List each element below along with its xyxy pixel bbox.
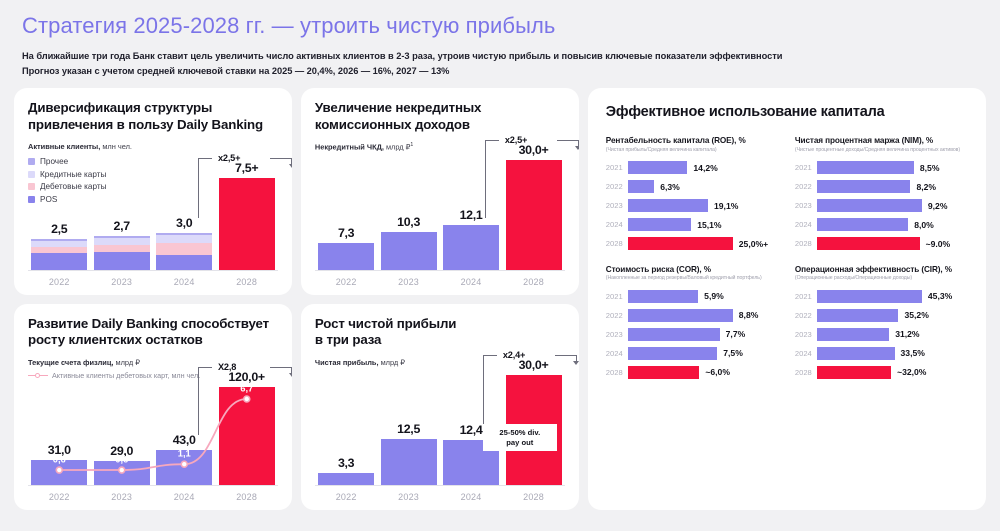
metric-value-label: ~32,0% — [897, 367, 926, 377]
metric-value-label: 8,5% — [920, 163, 940, 173]
chart-x-axis: 2022202320242028 — [28, 277, 278, 287]
bar-value-label: 3,0 — [176, 216, 192, 230]
metric-value-label: 19,1% — [714, 201, 738, 211]
bar[interactable] — [94, 461, 150, 485]
card-net-profit: Рост чистой прибыли в три раза Чистая пр… — [301, 304, 579, 511]
metric-bar-track: 6,3% — [628, 180, 779, 193]
x-axis-tick-label: 2024 — [442, 277, 499, 287]
card1-unit-label: Активные клиенты, млн чел. — [28, 142, 278, 151]
metric-bar[interactable] — [628, 366, 700, 379]
metric-title: Чистая процентная маржа (NIM), % — [795, 136, 968, 145]
bar[interactable] — [31, 460, 87, 485]
metric-bar-row[interactable]: 202825,0%+ — [606, 236, 779, 252]
metric-bar-row[interactable]: 2028~32,0% — [795, 364, 968, 380]
bar-segment — [156, 235, 212, 243]
x-axis-tick-label: 2022 — [31, 492, 88, 502]
arrow-head-icon — [573, 361, 578, 365]
bracket-horizontal-line — [198, 158, 212, 159]
bar-segment — [94, 245, 150, 252]
x-axis-tick-label: 2024 — [155, 492, 212, 502]
bar-value-label: 12,4 — [460, 423, 483, 437]
bracket-arrow-stem — [578, 140, 579, 147]
card1-unit-bold: Активные клиенты, — [28, 142, 100, 151]
chart-plot-area: 3,312,512,430,0+x2,4+25-50% div. pay out — [315, 349, 565, 486]
metric-bar-row[interactable]: 20248,0% — [795, 217, 968, 233]
bar[interactable] — [156, 233, 212, 270]
metric-year-label: 2021 — [795, 163, 817, 172]
bracket-arrow-line — [270, 367, 292, 368]
metric-year-label: 2021 — [795, 292, 817, 301]
metric-bar-row[interactable]: 20215,9% — [606, 288, 779, 304]
metric-value-label: 7,5% — [723, 348, 743, 358]
bracket-arrow-line — [557, 140, 579, 141]
bar-segment — [318, 473, 374, 485]
metric-bar[interactable] — [628, 309, 733, 322]
metric-bar[interactable] — [628, 347, 717, 360]
metric-bar[interactable] — [817, 218, 908, 231]
chart-column[interactable]: 43,0 — [155, 433, 212, 485]
x-axis-tick-label: 2022 — [317, 277, 374, 287]
bar[interactable] — [381, 232, 437, 270]
page-title: Стратегия 2025-2028 гг. — утроить чистую… — [22, 14, 978, 38]
bracket-arrow-stem — [576, 355, 577, 362]
metric-bar[interactable] — [628, 290, 698, 303]
bar-segment — [31, 253, 87, 270]
bar-segment — [156, 255, 212, 270]
x-axis-tick-label: 2023 — [93, 277, 150, 287]
metric-bar[interactable] — [628, 161, 688, 174]
card1-chart: 2,52,73,07,5+x2,5+2022202320242028 — [28, 152, 278, 287]
metric-bar-row[interactable]: 20237,7% — [606, 326, 779, 342]
x-axis-tick-label: 2028 — [505, 277, 562, 287]
metric-value-label: 6,3% — [660, 182, 680, 192]
metric-bar-row[interactable]: 202235,2% — [795, 307, 968, 323]
chart-plot-area: 7,310,312,130,0+x2,5+ — [315, 134, 565, 271]
metric-bar-track: 7,7% — [628, 328, 779, 341]
chart-x-axis: 2022202320242028 — [28, 492, 278, 502]
metric-subtitle: (Чистые процентные доходы/Средняя величи… — [795, 147, 968, 153]
x-axis-tick-label: 2024 — [155, 277, 212, 287]
bar[interactable] — [443, 225, 499, 269]
x-axis-tick-label: 2028 — [218, 492, 275, 502]
metric-bar[interactable] — [817, 290, 922, 303]
bar[interactable] — [219, 387, 275, 485]
metric-bar[interactable] — [817, 161, 914, 174]
bracket-horizontal-line — [483, 355, 497, 356]
metric-year-label: 2024 — [795, 220, 817, 229]
chart-column[interactable]: 29,0 — [93, 444, 150, 485]
bar-segment — [443, 225, 499, 269]
bar-segment — [94, 461, 150, 485]
bar[interactable] — [31, 239, 87, 270]
metric-bar[interactable] — [628, 199, 708, 212]
chart-column[interactable]: 120,0+ — [218, 370, 275, 485]
bracket-arrow-stem — [291, 158, 292, 165]
metric-value-label: ~6,0% — [705, 367, 730, 377]
metric-bar-row[interactable]: 202433,5% — [795, 345, 968, 361]
bar-segment — [318, 243, 374, 270]
bar-value-label: 31,0 — [48, 443, 71, 457]
metric-bar-row[interactable]: 202114,2% — [606, 160, 779, 176]
metric-bar-track: 5,9% — [628, 290, 779, 303]
metric-grid: Рентабельность капитала (ROE), %(Чистая … — [606, 136, 968, 383]
bar-segment — [506, 160, 562, 270]
bar[interactable] — [506, 160, 562, 270]
bar-value-label: 7,5+ — [235, 161, 258, 175]
metric-year-label: 2021 — [606, 292, 628, 301]
dashboard-board: Диверсификация структуры привлечения в п… — [0, 78, 1000, 510]
metric-year-label: 2024 — [606, 220, 628, 229]
card3-title: Развитие Daily Banking способствует рост… — [28, 316, 278, 349]
bracket-arrow-stem — [291, 367, 292, 374]
metric-year-label: 2028 — [795, 368, 817, 377]
metric-bar[interactable] — [817, 309, 899, 322]
chart-column[interactable]: 31,0 — [31, 443, 88, 485]
x-axis-tick-label: 2024 — [442, 492, 499, 502]
page-subtitle: На ближайшие три года Банк ставит цель у… — [22, 49, 978, 78]
bar[interactable] — [219, 178, 275, 270]
metric-year-label: 2023 — [795, 201, 817, 210]
metric-block: Рентабельность капитала (ROE), %(Чистая … — [606, 136, 779, 255]
metric-year-label: 2024 — [606, 349, 628, 358]
metric-block: Стоимость риска (COR), %(Накопленные за … — [606, 265, 779, 384]
bar-segment — [94, 238, 150, 245]
chart-plot-area: 2,52,73,07,5+x2,5+ — [28, 152, 278, 271]
bar-value-label: 29,0 — [110, 444, 133, 458]
card1-title: Диверсификация структуры привлечения в п… — [28, 100, 278, 133]
card2-chart: 7,310,312,130,0+x2,5+2022202320242028 — [315, 134, 565, 287]
chart-column[interactable]: 30,0+ — [505, 358, 562, 485]
metric-bar-track: ~6,0% — [628, 366, 779, 379]
metric-bar-track: 25,0%+ — [628, 237, 779, 250]
bar-segment — [381, 232, 437, 270]
chart-x-axis: 2022202320242028 — [315, 492, 565, 502]
x-axis-tick-label: 2028 — [505, 492, 562, 502]
metric-bar-track: 8,2% — [817, 180, 968, 193]
metric-bar-track: 14,2% — [628, 161, 779, 174]
metric-bar[interactable] — [628, 218, 691, 231]
metric-value-label: 7,7% — [726, 329, 746, 339]
metric-title: Операционная эффективность (CIR), % — [795, 265, 968, 274]
metric-bar-row[interactable]: 202415,1% — [606, 217, 779, 233]
bar-value-label: 2,5 — [51, 222, 67, 236]
bracket-horizontal-line — [198, 367, 212, 368]
bracket-arrow-line — [270, 158, 292, 159]
metric-value-label: 14,2% — [693, 163, 717, 173]
bar-segment — [94, 252, 150, 269]
metric-bar-track: 8,8% — [628, 309, 779, 322]
chart-column[interactable]: 3,0 — [155, 216, 212, 270]
metric-bar-row[interactable]: 202145,3% — [795, 288, 968, 304]
metric-bar-track: 33,5% — [817, 347, 968, 360]
metric-bar-row[interactable]: 20239,2% — [795, 198, 968, 214]
metric-year-label: 2022 — [606, 182, 628, 191]
bar[interactable] — [381, 439, 437, 485]
left-row-bottom: Развитие Daily Banking способствует рост… — [14, 304, 579, 511]
metric-year-label: 2021 — [606, 163, 628, 172]
bar[interactable] — [94, 236, 150, 269]
bracket-horizontal-line — [485, 140, 499, 141]
metric-bar-track: 35,2% — [817, 309, 968, 322]
chart-column[interactable]: 2,7 — [93, 219, 150, 269]
metric-bar-track: ~32,0% — [817, 366, 968, 379]
metric-bar-row[interactable]: 20218,5% — [795, 160, 968, 176]
metric-bar-track: 45,3% — [817, 290, 968, 303]
metric-value-label: 15,1% — [697, 220, 721, 230]
metric-year-label: 2023 — [795, 330, 817, 339]
metric-block: Операционная эффективность (CIR), %(Опер… — [795, 265, 968, 384]
bar-value-label: 30,0+ — [519, 358, 549, 372]
bar[interactable] — [156, 450, 212, 485]
bracket-vertical-line — [198, 367, 199, 435]
metric-value-label: 8,0% — [914, 220, 934, 230]
metric-value-label: 33,5% — [901, 348, 925, 358]
bar-segment — [219, 178, 275, 270]
bar-value-label: 43,0 — [173, 433, 196, 447]
metric-value-label: 9,2% — [928, 201, 948, 211]
metric-bar-row[interactable]: 20247,5% — [606, 345, 779, 361]
metric-bar-track: 15,1% — [628, 218, 779, 231]
metric-bar-row[interactable]: 202319,1% — [606, 198, 779, 214]
bar[interactable] — [318, 243, 374, 270]
bar-value-label: 12,5 — [397, 422, 420, 436]
chart-column[interactable]: 30,0+ — [505, 143, 562, 270]
metric-bar[interactable] — [817, 180, 911, 193]
chart-column[interactable]: 3,3 — [317, 456, 374, 485]
metric-year-label: 2024 — [795, 349, 817, 358]
metric-bar-track: 8,5% — [817, 161, 968, 174]
metric-year-label: 2028 — [795, 239, 817, 248]
chart-plot-area: 31,029,043,0120,0+X2,80,60,61,16,7 — [28, 361, 278, 486]
metric-value-label: 31,2% — [895, 329, 919, 339]
chart-column[interactable]: 12,1 — [442, 208, 499, 269]
card-current-accounts: Развитие Daily Banking способствует рост… — [14, 304, 292, 511]
x-axis-tick-label: 2022 — [317, 492, 374, 502]
chart-column[interactable]: 2,5 — [31, 222, 88, 270]
bar-value-label: 120,0+ — [228, 370, 264, 384]
bar-segment — [31, 460, 87, 485]
card-fee-income: Увеличение некредитных комиссионных дохо… — [301, 88, 579, 295]
metric-subtitle: (Чистая прибыль/Средняя величина капитал… — [606, 147, 779, 153]
metric-value-label: 35,2% — [904, 310, 928, 320]
metric-year-label: 2023 — [606, 201, 628, 210]
metric-value-label: 8,8% — [739, 310, 759, 320]
bar[interactable] — [318, 473, 374, 485]
right-panel-title: Эффективное использование капитала — [606, 104, 968, 120]
metric-bar[interactable] — [817, 237, 920, 250]
chart-column[interactable]: 7,5+ — [218, 161, 275, 270]
bar-segment — [381, 439, 437, 485]
bar-value-label: 7,3 — [338, 226, 354, 240]
card4-chart: 3,312,512,430,0+x2,4+25-50% div. pay out… — [315, 349, 565, 502]
card3-chart: 31,029,043,0120,0+X2,80,60,61,16,7202220… — [28, 361, 278, 502]
metric-year-label: 2022 — [606, 311, 628, 320]
subtitle-line-1: На ближайшие три года Банк ставит цель у… — [22, 49, 978, 63]
metric-bar-track: 7,5% — [628, 347, 779, 360]
bar-segment — [156, 243, 212, 255]
left-column: Диверсификация структуры привлечения в п… — [14, 88, 579, 510]
metric-year-label: 2022 — [795, 311, 817, 320]
bar-segment — [156, 450, 212, 485]
chart-column[interactable]: 10,3 — [380, 215, 437, 270]
bar-value-label: 10,3 — [397, 215, 420, 229]
subtitle-line-2: Прогноз указан с учетом средней ключевой… — [22, 64, 978, 78]
metric-bar[interactable] — [628, 237, 733, 250]
arrow-head-icon — [289, 164, 292, 168]
card-capital-efficiency: Эффективное использование капитала Рента… — [588, 88, 986, 510]
metric-value-label: 8,2% — [916, 182, 936, 192]
metric-year-label: 2028 — [606, 368, 628, 377]
metric-bar[interactable] — [628, 180, 654, 193]
metric-title: Рентабельность капитала (ROE), % — [606, 136, 779, 145]
x-axis-tick-label: 2023 — [380, 277, 437, 287]
metric-bar-row[interactable]: 2028~6,0% — [606, 364, 779, 380]
metric-subtitle: (Накопленные за период резервы/Валовый к… — [606, 275, 779, 281]
metric-bar-track: 8,0% — [817, 218, 968, 231]
metric-bar-row[interactable]: 20228,2% — [795, 179, 968, 195]
chart-x-axis: 2022202320242028 — [315, 277, 565, 287]
metric-subtitle: (Операционные расходы/Операционные доход… — [795, 275, 968, 281]
metric-year-label: 2028 — [606, 239, 628, 248]
metric-year-label: 2023 — [606, 330, 628, 339]
x-axis-tick-label: 2023 — [380, 492, 437, 502]
x-axis-tick-label: 2028 — [218, 277, 275, 287]
card1-unit-rest: млн чел. — [100, 142, 132, 151]
metric-value-label: 5,9% — [704, 291, 724, 301]
arrow-head-icon — [575, 146, 578, 150]
metric-bar-track: 19,1% — [628, 199, 779, 212]
card2-title: Увеличение некредитных комиссионных дохо… — [315, 100, 565, 133]
bar-segment — [219, 387, 275, 485]
metric-bar[interactable] — [817, 366, 891, 379]
bar-value-label: 2,7 — [114, 219, 130, 233]
metric-bar-track: ~9.0% — [817, 237, 968, 250]
metric-value-label: 45,3% — [928, 291, 952, 301]
bar-value-label: 30,0+ — [519, 143, 549, 157]
bar-value-label: 3,3 — [338, 456, 354, 470]
page-header: Стратегия 2025-2028 гг. — утроить чистую… — [0, 0, 1000, 78]
metric-value-label: ~9.0% — [926, 239, 951, 249]
bar-value-label: 12,1 — [460, 208, 483, 222]
metric-bar-row[interactable]: 20228,8% — [606, 307, 779, 323]
metric-bar[interactable] — [817, 199, 922, 212]
chart-column[interactable]: 12,5 — [380, 422, 437, 485]
metric-year-label: 2022 — [795, 182, 817, 191]
metric-bar[interactable] — [817, 328, 889, 341]
metric-bar-row[interactable]: 202331,2% — [795, 326, 968, 342]
metric-bar[interactable] — [817, 347, 895, 360]
dividend-payout-callout: 25-50% div. pay out — [483, 424, 557, 451]
x-axis-tick-label: 2022 — [31, 277, 88, 287]
metric-block: Чистая процентная маржа (NIM), %(Чистые … — [795, 136, 968, 255]
metric-bar-row[interactable]: 20226,3% — [606, 179, 779, 195]
metric-title: Стоимость риска (COR), % — [606, 265, 779, 274]
bracket-vertical-line — [198, 158, 199, 218]
metric-bar-track: 31,2% — [817, 328, 968, 341]
bracket-vertical-line — [483, 355, 484, 427]
metric-bar[interactable] — [628, 328, 720, 341]
x-axis-tick-label: 2023 — [93, 492, 150, 502]
bracket-arrow-line — [555, 355, 577, 356]
metric-bar-track: 9,2% — [817, 199, 968, 212]
chart-column[interactable]: 7,3 — [317, 226, 374, 270]
arrow-head-icon — [289, 373, 292, 377]
metric-value-label: 25,0%+ — [739, 239, 768, 249]
metric-bar-row[interactable]: 2028~9.0% — [795, 236, 968, 252]
card4-title: Рост чистой прибыли в три раза — [315, 316, 565, 349]
left-row-top: Диверсификация структуры привлечения в п… — [14, 88, 579, 295]
card-active-clients: Диверсификация структуры привлечения в п… — [14, 88, 292, 295]
bracket-vertical-line — [485, 140, 486, 218]
